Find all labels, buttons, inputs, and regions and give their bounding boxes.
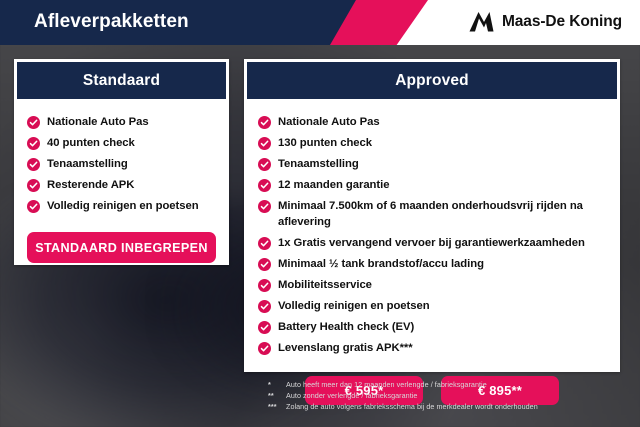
page-header: Afleverpakketten Maas-De Koning [0, 0, 640, 45]
feature-text: Tenaamstelling [47, 156, 128, 172]
check-circle-icon [27, 158, 40, 171]
footnote-3: *** Zolang de auto volgens fabrieksschem… [268, 402, 538, 413]
feature-text: Minimaal 7.500km of 6 maanden onderhouds… [278, 198, 610, 230]
feature-text: Mobiliteitsservice [278, 277, 372, 293]
check-circle-icon [258, 179, 271, 192]
check-circle-icon [27, 179, 40, 192]
check-circle-icon [258, 116, 271, 129]
list-item: Nationale Auto Pas [27, 114, 219, 130]
list-item: Levenslang gratis APK*** [258, 340, 610, 356]
feature-list-approved: Nationale Auto Pas 130 punten check Tena… [244, 99, 620, 356]
card-title-approved: Approved [247, 62, 617, 99]
feature-text: 40 punten check [47, 135, 135, 151]
feature-text: 1x Gratis vervangend vervoer bij garanti… [278, 235, 585, 251]
list-item: Volledig reinigen en poetsen [258, 298, 610, 314]
footnote-2: ** Auto zonder verlengde / fabrieksgaran… [268, 391, 538, 402]
footnote-text: Auto heeft meer dan 12 maanden verlengde… [286, 380, 487, 391]
list-item: Volledig reinigen en poetsen [27, 198, 219, 214]
card-title-standaard: Standaard [17, 62, 226, 99]
list-item: Mobiliteitsservice [258, 277, 610, 293]
feature-text: Volledig reinigen en poetsen [47, 198, 199, 214]
check-circle-icon [258, 342, 271, 355]
brand-name: Maas-De Koning [502, 13, 622, 31]
list-item: Nationale Auto Pas [258, 114, 610, 130]
list-item: Battery Health check (EV) [258, 319, 610, 335]
feature-text: Tenaamstelling [278, 156, 359, 172]
standaard-inbegrepen-button[interactable]: STANDAARD INBEGREPEN [27, 232, 216, 263]
feature-text: Battery Health check (EV) [278, 319, 414, 335]
footnotes-block: * Auto heeft meer dan 12 maanden verleng… [268, 380, 538, 413]
check-circle-icon [27, 137, 40, 150]
list-item: 1x Gratis vervangend vervoer bij garanti… [258, 235, 610, 251]
list-item: Minimaal ½ tank brandstof/accu lading [258, 256, 610, 272]
feature-text: Nationale Auto Pas [47, 114, 149, 130]
list-item: Resterende APK [27, 177, 219, 193]
footnote-1: * Auto heeft meer dan 12 maanden verleng… [268, 380, 538, 391]
package-card-standaard: Standaard Nationale Auto Pas 40 punten c… [14, 59, 229, 265]
footnote-marker: *** [268, 402, 286, 413]
footnote-marker: * [268, 380, 286, 391]
check-circle-icon [258, 279, 271, 292]
check-circle-icon [27, 116, 40, 129]
check-circle-icon [258, 158, 271, 171]
list-item: 130 punten check [258, 135, 610, 151]
footnote-marker: ** [268, 391, 286, 402]
feature-text: Nationale Auto Pas [278, 114, 380, 130]
check-circle-icon [258, 321, 271, 334]
feature-text: Volledig reinigen en poetsen [278, 298, 430, 314]
check-circle-icon [258, 200, 271, 213]
list-item: 40 punten check [27, 135, 219, 151]
check-circle-icon [258, 258, 271, 271]
brand-logo[interactable]: Maas-De Koning [469, 11, 622, 32]
package-card-approved: Approved Nationale Auto Pas 130 punten c… [244, 59, 620, 372]
feature-text: Resterende APK [47, 177, 134, 193]
check-circle-icon [258, 137, 271, 150]
check-circle-icon [27, 200, 40, 213]
list-item: Minimaal 7.500km of 6 maanden onderhouds… [258, 198, 610, 230]
footnote-text: Zolang de auto volgens fabrieksschema bi… [286, 402, 538, 413]
maas-de-koning-m-mark-icon [469, 11, 494, 32]
list-item: 12 maanden garantie [258, 177, 610, 193]
feature-list-standaard: Nationale Auto Pas 40 punten check Tenaa… [14, 99, 229, 214]
check-circle-icon [258, 300, 271, 313]
feature-text: 130 punten check [278, 135, 372, 151]
feature-text: 12 maanden garantie [278, 177, 389, 193]
page-title: Afleverpakketten [34, 11, 189, 33]
list-item: Tenaamstelling [258, 156, 610, 172]
feature-text: Minimaal ½ tank brandstof/accu lading [278, 256, 484, 272]
check-circle-icon [258, 237, 271, 250]
standaard-button-row: STANDAARD INBEGREPEN [14, 219, 229, 263]
list-item: Tenaamstelling [27, 156, 219, 172]
feature-text: Levenslang gratis APK*** [278, 340, 413, 356]
footnote-text: Auto zonder verlengde / fabrieksgarantie [286, 391, 417, 402]
